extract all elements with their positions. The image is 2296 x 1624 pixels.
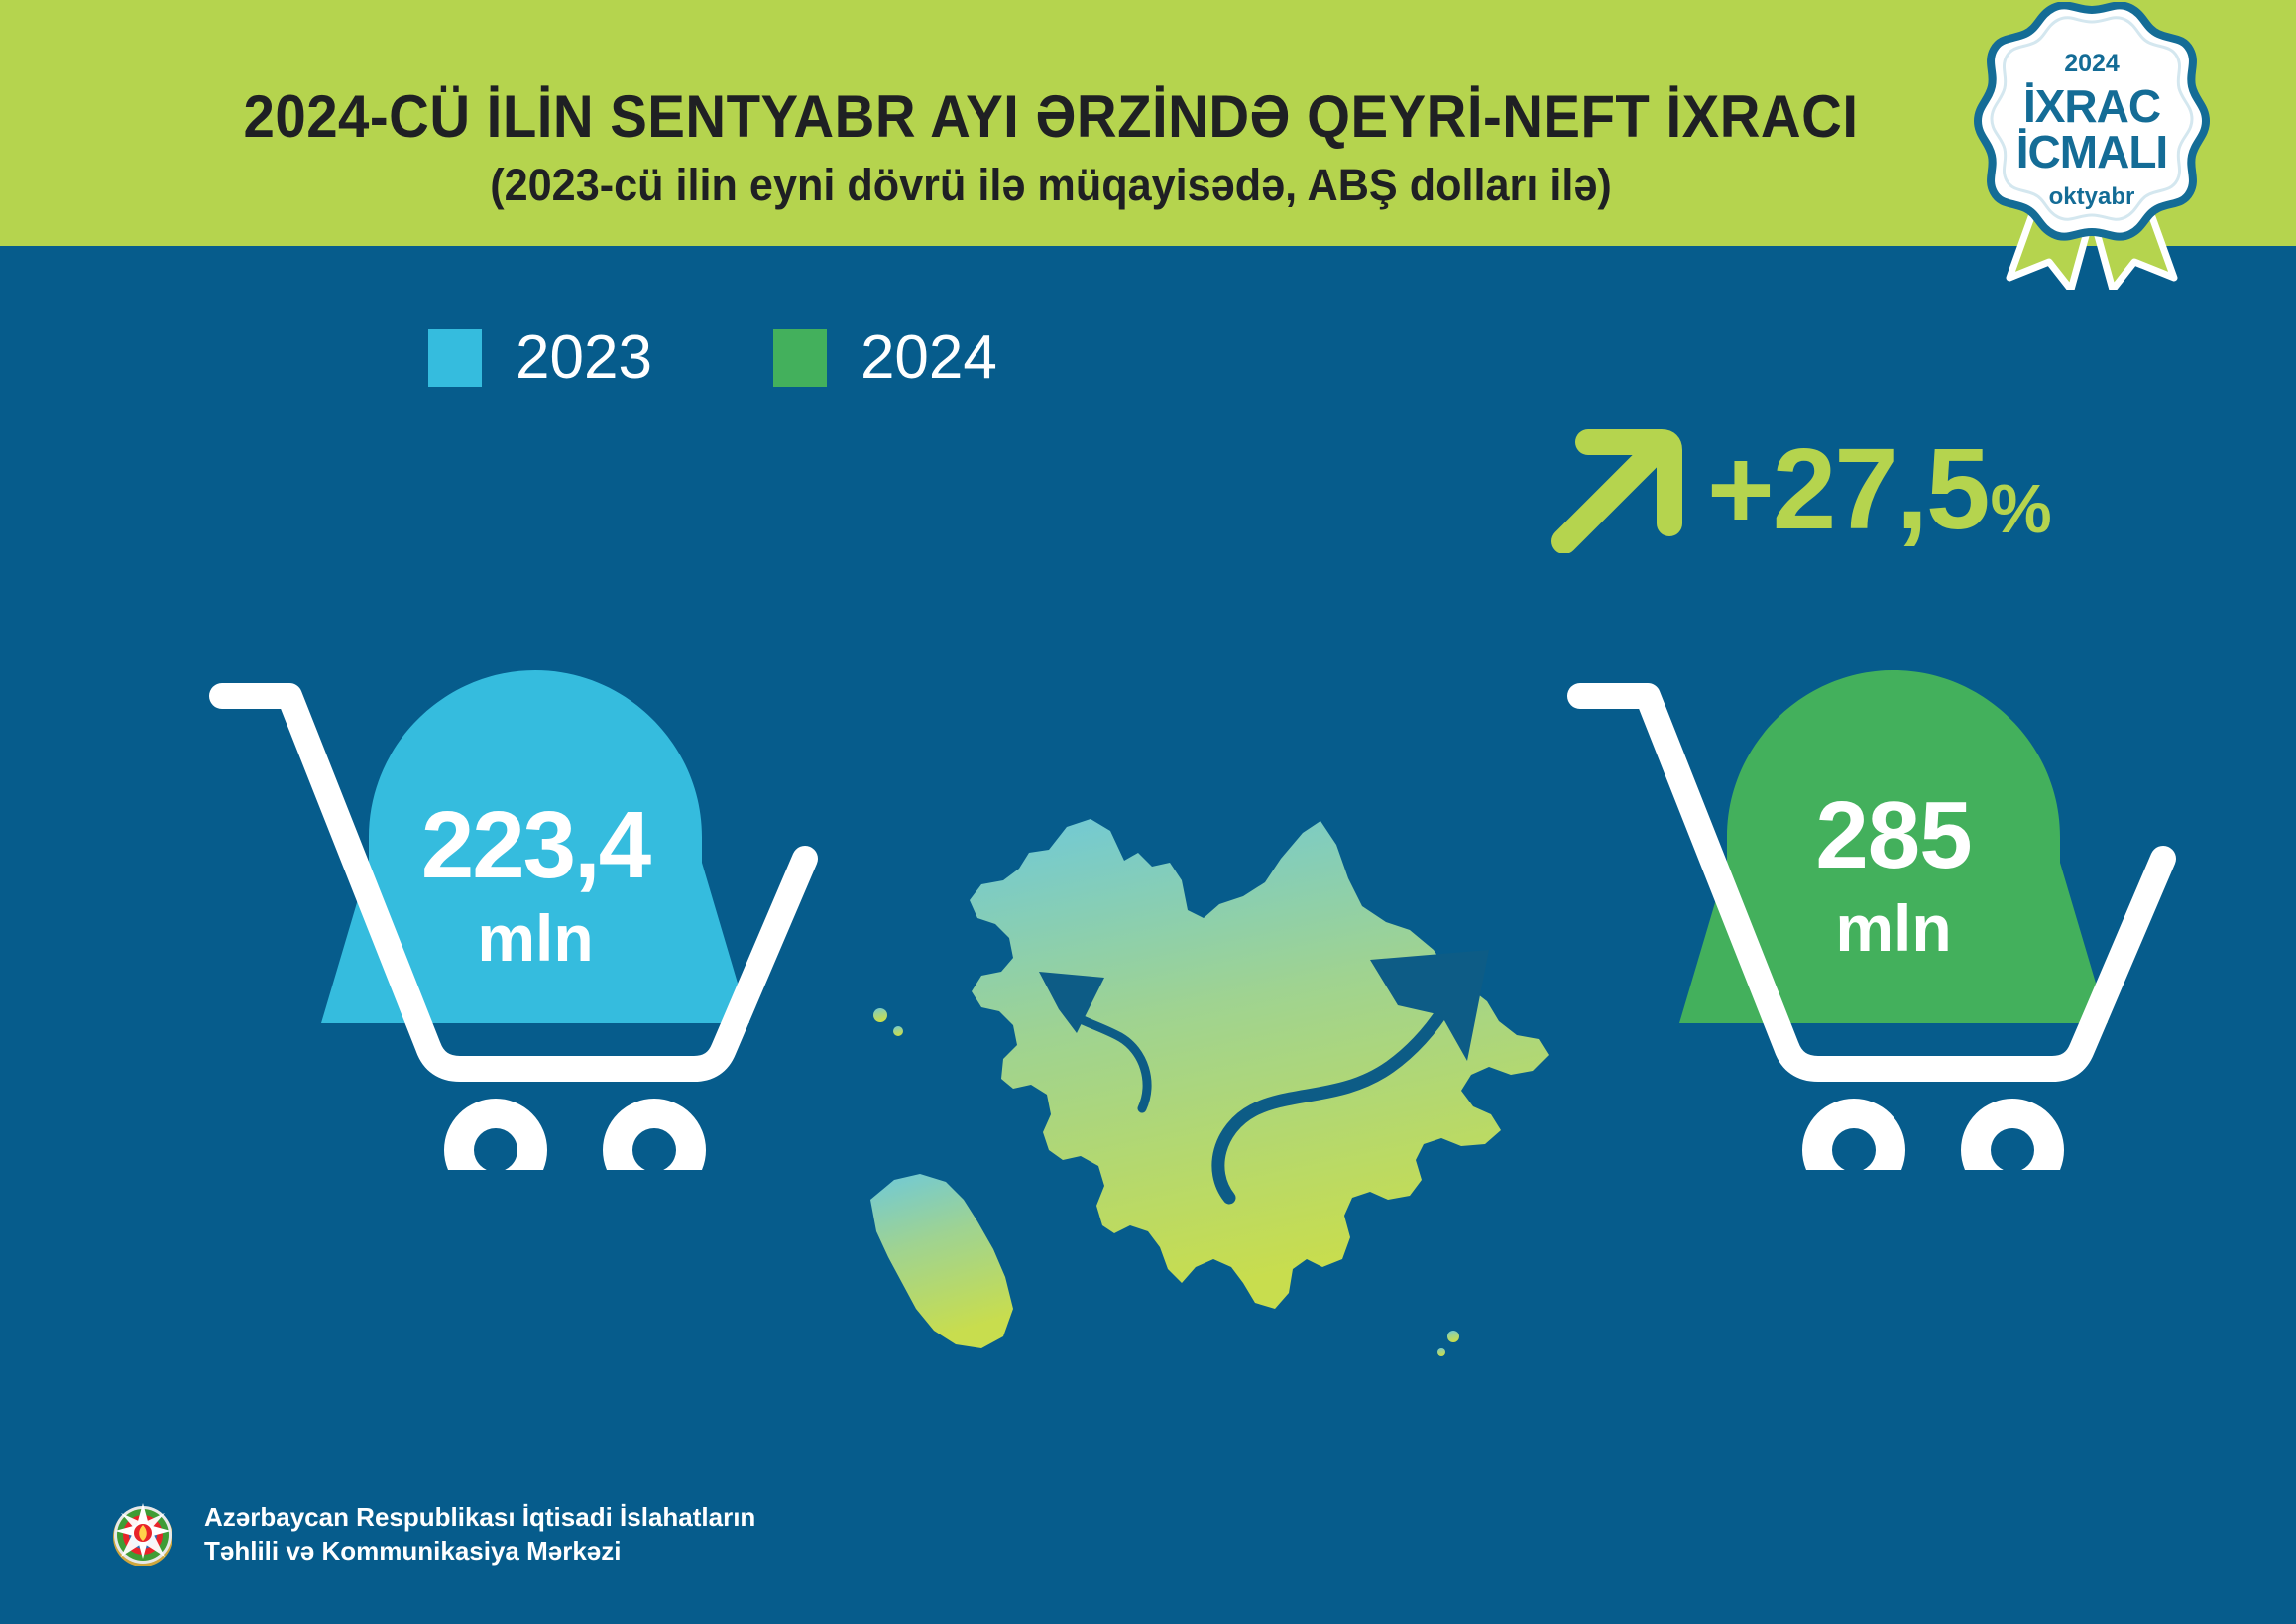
growth-percent-value: +27,5 — [1707, 431, 1989, 546]
azerbaijan-emblem-icon — [103, 1495, 182, 1574]
arrow-up-right-icon — [1547, 424, 1685, 553]
cart-wheels — [1802, 1099, 2064, 1170]
cart-2023-value: 223,4 — [198, 798, 872, 893]
badge-month: oktyabr — [1968, 185, 2216, 209]
azerbaijan-landmass — [870, 819, 1549, 1356]
legend-swatch-2023-icon — [428, 329, 482, 387]
legend-item-2023: 2023 — [428, 327, 652, 389]
legend-label-2023: 2023 — [516, 327, 652, 389]
cart-wheels — [444, 1099, 706, 1170]
chart-legend: 2023 2024 — [428, 327, 997, 389]
page-subtitle: (2023-cü ilin eyni dövrü ilə müqayisədə,… — [42, 163, 2059, 207]
infographic-page: 2024-CÜ İLİN SENTYABR AYI ƏRZİNDƏ QEYRİ-… — [0, 0, 2296, 1624]
cart-2024-unit: mln — [1556, 895, 2231, 961]
footer-organization: Azərbaycan Respublikası İqtisadi İslahat… — [204, 1501, 755, 1568]
growth-indicator: +27,5 % — [1547, 424, 2052, 553]
footer-line-1: Azərbaycan Respublikası İqtisadi İslahat… — [204, 1501, 755, 1535]
legend-swatch-2024-icon — [773, 329, 827, 387]
cart-2024: 285 mln — [1556, 654, 2231, 1170]
azerbaijan-map-icon — [855, 801, 1648, 1416]
badge-line-1: İXRAC — [1968, 83, 2216, 129]
cart-2024-value: 285 — [1556, 788, 2231, 883]
legend-label-2024: 2024 — [861, 327, 997, 389]
cart-2023: 223,4 mln — [198, 654, 872, 1170]
cart-2023-unit: mln — [198, 905, 872, 971]
growth-percent-sign: % — [1991, 474, 2052, 553]
header-banner: 2024-CÜ İLİN SENTYABR AYI ƏRZİNDƏ QEYRİ-… — [0, 0, 2296, 246]
footer-line-2: Təhlili və Kommunikasiya Mərkəzi — [204, 1535, 755, 1568]
page-title: 2024-CÜ İLİN SENTYABR AYI ƏRZİNDƏ QEYRİ-… — [63, 87, 2039, 147]
badge-line-2: İCMALI — [1968, 129, 2216, 174]
badge-year: 2024 — [1968, 52, 2216, 76]
report-badge: 2024 İXRAC İCMALI oktyabr — [1968, 2, 2216, 290]
footer: Azərbaycan Respublikası İqtisadi İslahat… — [103, 1495, 755, 1574]
legend-item-2024: 2024 — [773, 327, 997, 389]
